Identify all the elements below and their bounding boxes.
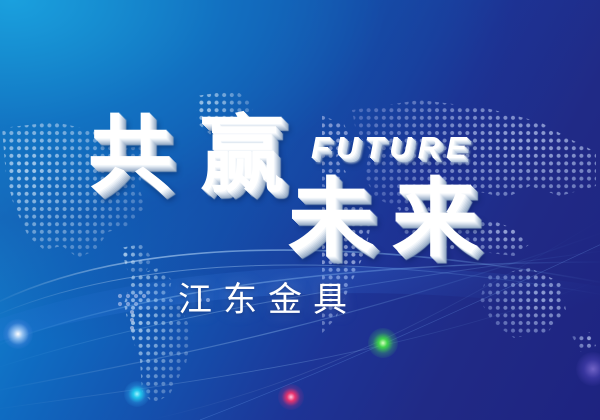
promo-banner: 共 赢 FUTURE 未 来 江东金具 xyxy=(0,0,600,420)
headline-char-ying: 赢 xyxy=(200,113,284,197)
company-name: 江东金具 xyxy=(178,272,358,321)
headline-char-gong: 共 xyxy=(88,113,172,197)
headline-latin-future: FUTURE xyxy=(311,130,473,166)
headline-char-wei: 未 xyxy=(288,176,374,262)
headline-char-lai: 来 xyxy=(392,176,478,262)
headline-group: 共 赢 FUTURE 未 来 江东金具 xyxy=(0,0,600,420)
